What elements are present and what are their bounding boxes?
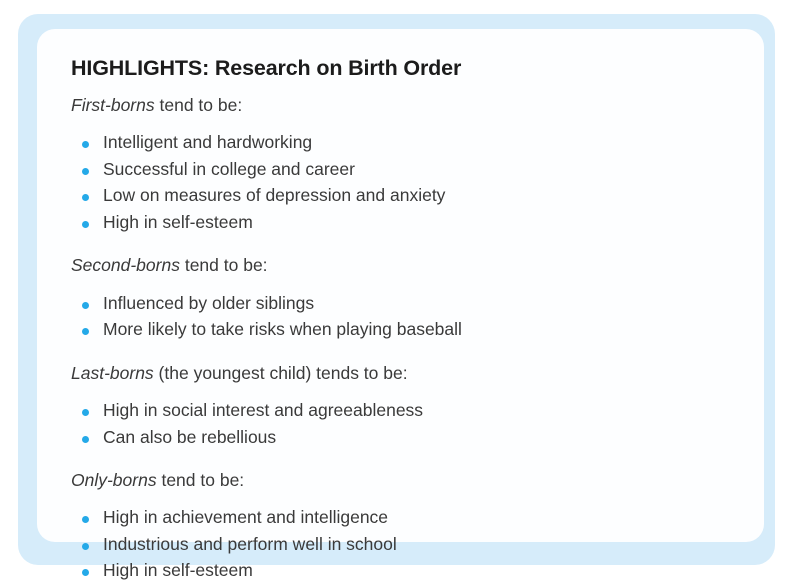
bullet-list: Intelligent and hardworking Successful i… bbox=[71, 134, 730, 231]
section-only-borns: Only-borns tend to be: High in achieveme… bbox=[71, 457, 730, 580]
list-item: High in self-esteem bbox=[71, 214, 730, 232]
section-first-borns: First-borns tend to be: Intelligent and … bbox=[71, 90, 730, 231]
list-item-label: High in self-esteem bbox=[103, 560, 253, 580]
list-item: Industrious and perform well in school bbox=[71, 536, 730, 554]
list-item-label: High in self-esteem bbox=[103, 212, 253, 232]
section-heading: Second-borns tend to be: bbox=[71, 242, 730, 282]
list-item: More likely to take risks when playing b… bbox=[71, 321, 730, 339]
bullet-list: High in social interest and agreeablenes… bbox=[71, 402, 730, 446]
section-term: First-borns bbox=[71, 95, 155, 115]
section-heading-rest: tend to be: bbox=[155, 95, 243, 115]
section-heading: Last-borns (the youngest child) tends to… bbox=[71, 350, 730, 390]
bullet-dot-icon bbox=[82, 302, 89, 309]
list-item: High in self-esteem bbox=[71, 562, 730, 580]
bullet-dot-icon bbox=[82, 516, 89, 523]
section-second-borns: Second-borns tend to be: Influenced by o… bbox=[71, 242, 730, 338]
section-heading: Only-borns tend to be: bbox=[71, 457, 730, 497]
list-item: Successful in college and career bbox=[71, 161, 730, 179]
bullet-dot-icon bbox=[82, 328, 89, 335]
section-heading-rest: tend to be: bbox=[157, 470, 245, 490]
highlight-card: HIGHLIGHTS: Research on Birth Order Firs… bbox=[37, 29, 764, 542]
section-heading: First-borns tend to be: bbox=[71, 90, 730, 122]
bullet-dot-icon bbox=[82, 569, 89, 576]
section-heading-rest: (the youngest child) tends to be: bbox=[154, 363, 408, 383]
section-term: Second-borns bbox=[71, 255, 180, 275]
highlight-box-frame: HIGHLIGHTS: Research on Birth Order Firs… bbox=[18, 14, 775, 565]
list-item-label: Can also be rebellious bbox=[103, 427, 276, 447]
section-term: Last-borns bbox=[71, 363, 154, 383]
list-item: Can also be rebellious bbox=[71, 429, 730, 447]
bullet-dot-icon bbox=[82, 168, 89, 175]
list-item-label: Successful in college and career bbox=[103, 159, 355, 179]
bullet-dot-icon bbox=[82, 194, 89, 201]
section-term: Only-borns bbox=[71, 470, 157, 490]
bullet-dot-icon bbox=[82, 436, 89, 443]
bullet-dot-icon bbox=[82, 221, 89, 228]
list-item: Intelligent and hardworking bbox=[71, 134, 730, 152]
bullet-list: Influenced by older siblings More likely… bbox=[71, 295, 730, 339]
list-item: High in social interest and agreeablenes… bbox=[71, 402, 730, 420]
list-item-label: High in social interest and agreeablenes… bbox=[103, 400, 423, 420]
list-item: High in achievement and intelligence bbox=[71, 509, 730, 527]
page-title: HIGHLIGHTS: Research on Birth Order bbox=[71, 55, 730, 83]
list-item-label: More likely to take risks when playing b… bbox=[103, 319, 462, 339]
section-last-borns: Last-borns (the youngest child) tends to… bbox=[71, 350, 730, 446]
list-item-label: Influenced by older siblings bbox=[103, 293, 314, 313]
section-heading-rest: tend to be: bbox=[180, 255, 268, 275]
bullet-list: High in achievement and intelligence Ind… bbox=[71, 509, 730, 580]
list-item-label: Intelligent and hardworking bbox=[103, 132, 312, 152]
list-item-label: Industrious and perform well in school bbox=[103, 534, 397, 554]
list-item: Influenced by older siblings bbox=[71, 295, 730, 313]
bullet-dot-icon bbox=[82, 543, 89, 550]
list-item-label: Low on measures of depression and anxiet… bbox=[103, 185, 445, 205]
bullet-dot-icon bbox=[82, 141, 89, 148]
list-item-label: High in achievement and intelligence bbox=[103, 507, 388, 527]
list-item: Low on measures of depression and anxiet… bbox=[71, 187, 730, 205]
bullet-dot-icon bbox=[82, 409, 89, 416]
